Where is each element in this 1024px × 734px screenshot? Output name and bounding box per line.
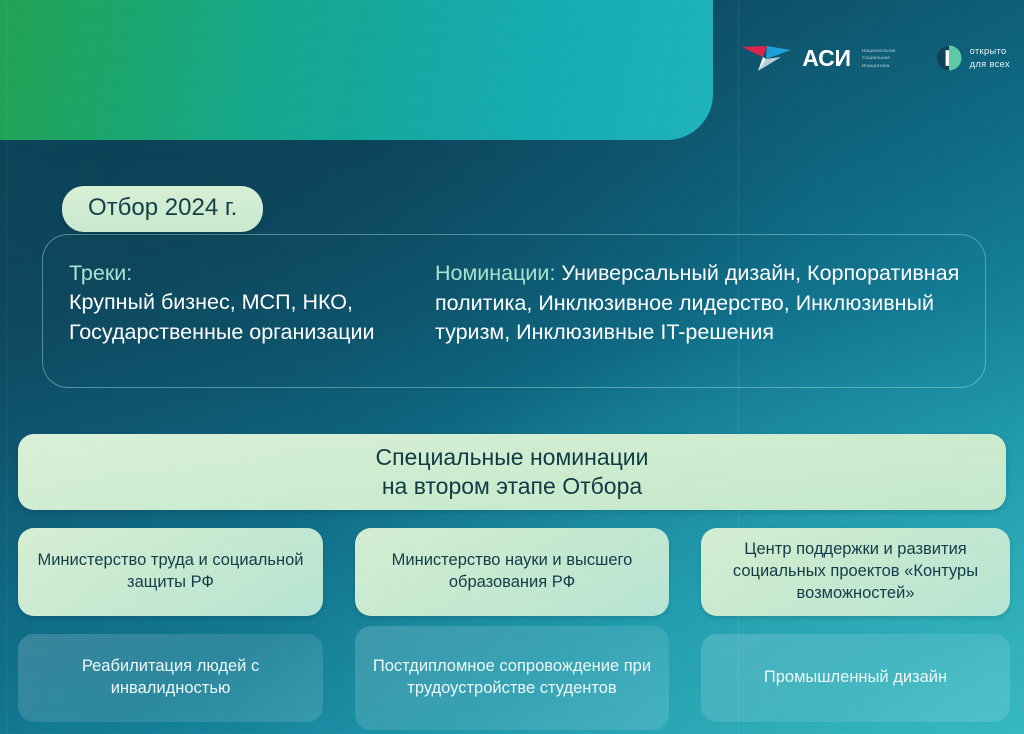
asi-subtitle-line-2: Социальная	[862, 54, 896, 61]
nomination-card-label: Постдипломное сопровождение при трудоуст…	[367, 656, 657, 700]
nomination-card-mintrud: Министерство труда и социальной защиты Р…	[18, 528, 323, 616]
header-band	[0, 0, 713, 140]
nominations-text: Номинации: Универсальный дизайн, Корпора…	[435, 259, 965, 348]
nomination-card-minobr: Министерство науки и высшего образования…	[355, 528, 669, 616]
special-nomination-cards: Министерство труда и социальной защиты Р…	[18, 528, 1006, 722]
nomination-card-label: Министерство науки и высшего образования…	[367, 550, 657, 594]
info-box: Треки: Крупный бизнес, МСП, НКО, Государ…	[42, 234, 986, 388]
asi-wordmark: АСИ	[802, 47, 851, 70]
special-nominations-line-1: Специальные номинации	[375, 444, 648, 470]
open-for-all-wordmark: открыто для всех	[970, 45, 1010, 71]
asi-subtitle-line-1: Национальная	[862, 47, 896, 54]
nomination-card-label: Центр поддержки и развития социальных пр…	[713, 539, 998, 605]
asi-logo: АСИ Национальная Социальная Инициатива	[741, 43, 895, 73]
special-nominations-line-2: на втором этапе Отбора	[382, 473, 642, 499]
asi-subtitle: Национальная Социальная Инициатива	[862, 47, 896, 68]
nominations-column: Номинации: Универсальный дизайн, Корпора…	[435, 259, 965, 348]
nomination-card-rehab: Реабилитация людей с инвалидностью	[18, 634, 323, 722]
nomination-card-konturi: Центр поддержки и развития социальных пр…	[701, 528, 1010, 616]
asi-arrow-icon	[741, 43, 793, 73]
open-for-all-line-2: для всех	[970, 58, 1010, 71]
nomination-card-label: Реабилитация людей с инвалидностью	[30, 656, 311, 700]
nomination-card-industrial: Промышленный дизайн	[701, 634, 1010, 722]
open-for-all-line-1: открыто	[970, 45, 1010, 58]
tracks-body: Крупный бизнес, МСП, НКО, Государственны…	[69, 288, 399, 347]
asi-subtitle-line-3: Инициатива	[862, 62, 896, 69]
tracks-column: Треки: Крупный бизнес, МСП, НКО, Государ…	[69, 259, 399, 348]
year-badge: Отбор 2024 г.	[62, 186, 263, 232]
nomination-card-postgrad: Постдипломное сопровождение при трудоуст…	[355, 626, 669, 730]
logo-group: АСИ Национальная Социальная Инициатива о…	[741, 43, 1010, 73]
tracks-label: Треки:	[69, 259, 399, 288]
slide-root: Всероссийский отбор инклюзивных практик …	[0, 0, 1024, 734]
nominations-label: Номинации:	[435, 261, 555, 285]
nomination-card-label: Промышленный дизайн	[764, 667, 947, 689]
nomination-card-label: Министерство труда и социальной защиты Р…	[30, 550, 311, 594]
special-nominations-text: Специальные номинации на втором этапе От…	[375, 443, 648, 502]
open-for-all-circle-icon	[936, 45, 962, 71]
special-nominations-banner: Специальные номинации на втором этапе От…	[18, 434, 1006, 510]
open-for-all-logo: открыто для всех	[936, 45, 1010, 71]
